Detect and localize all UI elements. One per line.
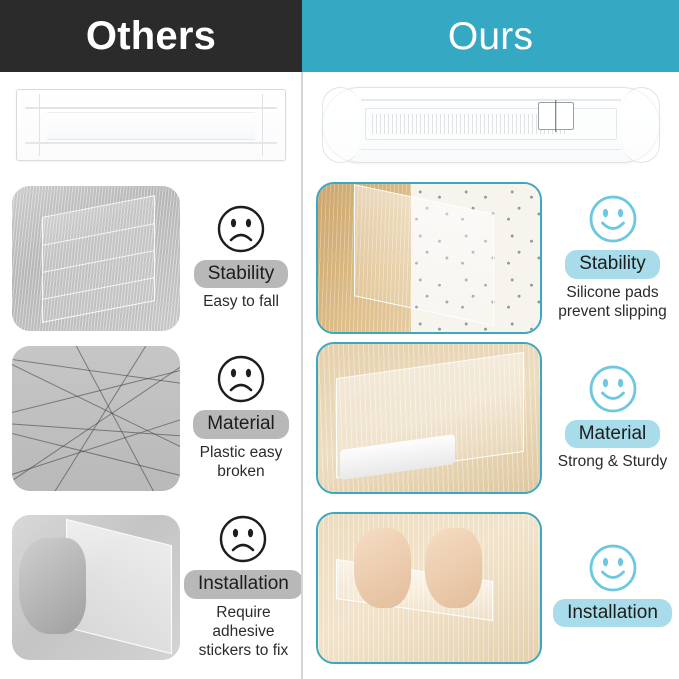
photo-texture xyxy=(318,184,540,332)
photo-texture xyxy=(12,186,180,331)
column-ours: Stability Silicone pads prevent slipping xyxy=(302,72,679,679)
product-track xyxy=(365,108,617,140)
hand-shape xyxy=(19,538,86,634)
smiley-face-icon xyxy=(588,364,638,414)
comparison-infographic: Others Ours xyxy=(0,0,679,679)
badge-others-material: Material xyxy=(193,410,289,439)
hand-shape-left xyxy=(354,528,412,608)
photo-ours-stability xyxy=(316,182,542,334)
info-others-material: Material Plastic easy broken xyxy=(180,354,302,482)
product-image-ours xyxy=(322,87,660,163)
row-others-installation: Installation Require adhesive stickers t… xyxy=(0,498,302,677)
column-others: Stability Easy to fall xyxy=(0,72,302,679)
caption-others-installation: Require adhesive stickers to fix xyxy=(184,604,303,661)
rows-ours: Stability Silicone pads prevent slipping xyxy=(302,178,679,677)
photo-texture xyxy=(12,515,180,660)
caption-ours-material: Strong & Sturdy xyxy=(558,453,667,472)
smiley-face-icon xyxy=(588,194,638,244)
photo-texture xyxy=(318,344,540,492)
frown-face-icon xyxy=(216,204,266,254)
info-others-stability: Stability Easy to fall xyxy=(180,204,302,313)
hero-ours xyxy=(302,72,679,178)
caption-others-material: Plastic easy broken xyxy=(200,444,283,482)
row-others-stability: Stability Easy to fall xyxy=(0,178,302,338)
photo-others-material xyxy=(12,346,180,491)
badge-ours-material: Material xyxy=(565,420,661,449)
product-cap-right xyxy=(623,87,660,163)
row-ours-installation: Installation xyxy=(302,498,679,677)
frown-face-icon xyxy=(216,354,266,404)
photo-others-installation xyxy=(12,515,180,660)
product-top-line xyxy=(361,99,621,101)
frown-face-icon xyxy=(218,514,268,564)
hero-others xyxy=(0,72,302,178)
product-bottom-line xyxy=(361,149,621,151)
rows-others: Stability Easy to fall xyxy=(0,178,302,677)
product-center-panel xyxy=(47,112,255,140)
photo-ours-material xyxy=(316,342,542,494)
caption-others-stability: Easy to fall xyxy=(203,293,279,312)
badge-others-stability: Stability xyxy=(194,260,289,289)
product-clip xyxy=(538,102,574,130)
tray-shape xyxy=(42,195,155,323)
product-cap-left xyxy=(322,87,359,163)
badge-ours-stability: Stability xyxy=(565,250,660,279)
column-divider xyxy=(301,72,303,679)
caption-ours-stability: Silicone pads prevent slipping xyxy=(558,284,667,322)
product-edge-right xyxy=(262,94,263,156)
product-image-others xyxy=(16,89,286,161)
comparison-header: Others Ours xyxy=(0,0,679,72)
photo-texture xyxy=(318,514,540,662)
comparison-body: Stability Easy to fall xyxy=(0,72,679,679)
photo-texture xyxy=(12,346,180,491)
header-others-title: Others xyxy=(86,16,216,56)
info-others-installation: Installation Require adhesive stickers t… xyxy=(180,514,307,660)
badge-others-installation: Installation xyxy=(184,570,303,599)
info-ours-installation: Installation xyxy=(542,543,679,633)
badge-ours-installation: Installation xyxy=(553,599,672,628)
header-others: Others xyxy=(0,0,302,72)
info-ours-stability: Stability Silicone pads prevent slipping xyxy=(542,194,679,322)
info-ours-material: Material Strong & Sturdy xyxy=(542,364,679,473)
header-ours-title: Ours xyxy=(448,17,533,56)
row-ours-stability: Stability Silicone pads prevent slipping xyxy=(302,178,679,338)
row-ours-material: Material Strong & Sturdy xyxy=(302,338,679,498)
photo-others-stability xyxy=(12,186,180,331)
row-others-material: Material Plastic easy broken xyxy=(0,338,302,498)
hand-shape-right xyxy=(425,528,483,608)
smiley-face-icon xyxy=(588,543,638,593)
header-ours: Ours xyxy=(302,0,679,72)
photo-ours-installation xyxy=(316,512,542,664)
product-edge-left xyxy=(39,94,40,156)
